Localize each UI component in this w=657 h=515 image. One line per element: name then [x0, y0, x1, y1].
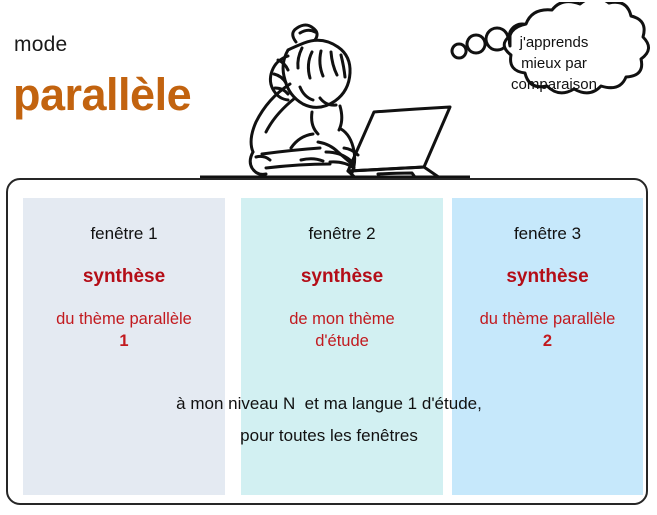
panel-3-title: fenêtre 3 [452, 224, 643, 244]
person-at-laptop-drawing [200, 2, 470, 178]
panels-container: fenêtre 1 synthèse du thème parallèle 1 … [23, 198, 635, 495]
thought-bubble-line-2: mieux par [478, 53, 630, 74]
panel-2-subtext-line-2: d'étude [315, 332, 369, 350]
header: mode parallèle [0, 0, 657, 178]
panel-fenetre-3[interactable]: fenêtre 3 synthèse du thème parallèle 2 [452, 198, 643, 495]
thought-bubble-line-1: j'apprends [478, 32, 630, 53]
panel-2-title: fenêtre 2 [241, 224, 443, 244]
panel-fenetre-1[interactable]: fenêtre 1 synthèse du thème parallèle 1 [23, 198, 225, 495]
panel-2-subtext-line-1: de mon thème [289, 310, 394, 328]
panel-2-subtext: de mon thème d'étude [241, 308, 443, 352]
thought-bubble-line-3: comparaison [478, 74, 630, 95]
thought-bubble-text: j'apprends mieux par comparaison [478, 32, 630, 95]
panel-3-subtext-line-1: du thème parallèle [480, 310, 616, 328]
panel-1-title: fenêtre 1 [23, 224, 225, 244]
thought-bubble: j'apprends mieux par comparaison [450, 2, 657, 142]
panel-fenetre-2[interactable]: fenêtre 2 synthèse de mon thème d'étude [241, 198, 443, 495]
panel-3-subtext-line-2: 2 [543, 332, 552, 350]
panel-1-subtext-line-1: du thème parallèle [56, 310, 192, 328]
mode-label: mode [14, 33, 67, 57]
panel-2-strong-label: synthèse [241, 266, 443, 288]
panel-3-strong-label: synthèse [452, 266, 643, 288]
panel-1-strong-label: synthèse [23, 266, 225, 288]
page-title: parallèle [13, 69, 191, 121]
panel-1-subtext: du thème parallèle 1 [23, 308, 225, 352]
panel-3-subtext: du thème parallèle 2 [452, 308, 643, 352]
parallel-mode-box: fenêtre 1 synthèse du thème parallèle 1 … [6, 178, 648, 505]
panel-1-subtext-line-2: 1 [119, 332, 128, 350]
